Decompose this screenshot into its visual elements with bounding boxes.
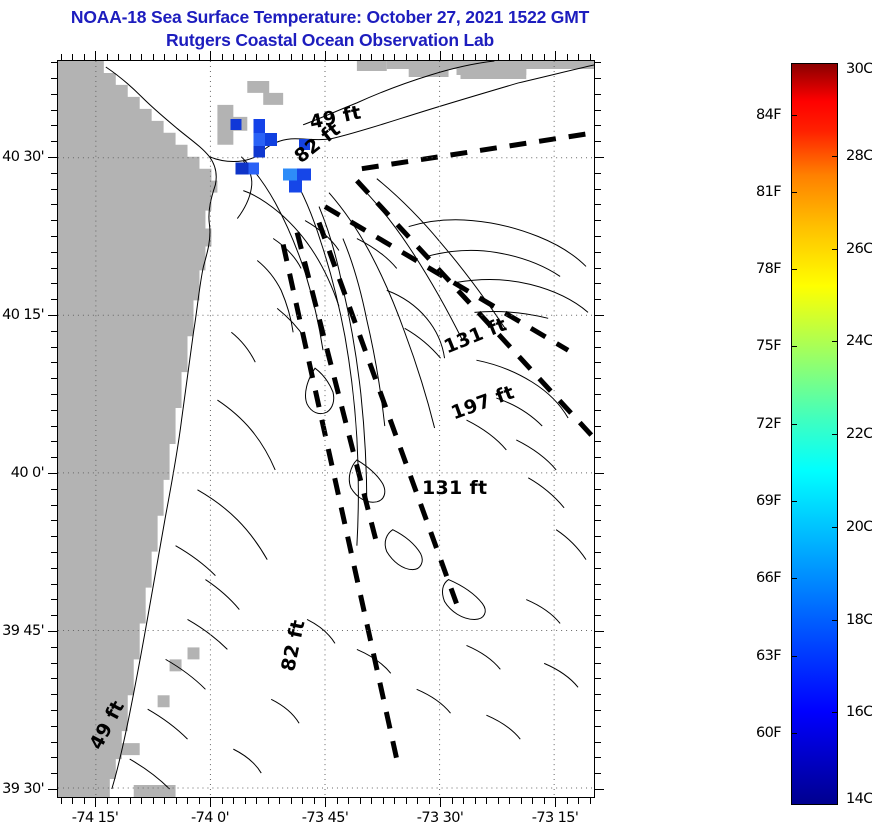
- y-tick-right: [595, 394, 601, 395]
- x-tick: [210, 798, 211, 807]
- x-tick: [486, 798, 487, 804]
- x-tick: [164, 798, 165, 804]
- y-tick-right: [595, 189, 601, 190]
- colorbar-label-f-4: 72F: [756, 416, 781, 432]
- title-line-2: Rutgers Coastal Ocean Observation Lab: [0, 29, 660, 52]
- x-tick: [567, 798, 568, 804]
- colorbar-tick-c-2: [832, 249, 838, 250]
- y-tick: [51, 394, 57, 395]
- x-tick: [371, 798, 372, 804]
- colorbar-label-c-5: 20C: [846, 519, 872, 535]
- x-tick-top: [360, 54, 361, 60]
- x-tick: [84, 798, 85, 804]
- y-tick: [51, 173, 57, 174]
- x-tick-top: [394, 54, 395, 60]
- colorbar-tick-c-5: [832, 527, 838, 528]
- y-tick-right: [595, 441, 601, 442]
- x-tick-top: [61, 54, 62, 60]
- x-tick: [95, 798, 96, 807]
- x-tick: [222, 798, 223, 804]
- y-axis-label-4: 39 30': [0, 781, 44, 797]
- x-tick: [233, 798, 234, 804]
- y-tick-right: [595, 220, 601, 221]
- x-tick-top: [509, 54, 510, 60]
- x-tick-top: [233, 54, 234, 60]
- x-tick-top: [153, 54, 154, 60]
- x-tick-top: [578, 54, 579, 60]
- y-tick: [51, 410, 57, 411]
- y-tick: [51, 189, 57, 190]
- x-tick: [268, 798, 269, 804]
- y-axis-label-2: 40 0': [0, 465, 44, 481]
- x-axis-label-1: -74 0': [191, 810, 229, 826]
- y-tick: [51, 347, 57, 348]
- x-tick-top: [118, 54, 119, 60]
- colorbar-tick-f-2: [791, 269, 797, 270]
- y-tick-right: [595, 789, 604, 790]
- y-tick-right: [595, 757, 601, 758]
- y-tick-right: [595, 78, 601, 79]
- y-tick-right: [595, 473, 604, 474]
- x-tick: [452, 798, 453, 804]
- y-tick-right: [595, 584, 601, 585]
- y-tick: [51, 283, 57, 284]
- colorbar: 30C28C26C24C22C20C18C16C14C84F81F78F75F7…: [791, 63, 838, 805]
- y-tick: [51, 125, 57, 126]
- y-tick: [51, 773, 57, 774]
- y-tick: [51, 378, 57, 379]
- colorbar-tick-f-4: [791, 424, 797, 425]
- colorbar-tick-c-3: [832, 341, 838, 342]
- colorbar-tick-f-7: [791, 656, 797, 657]
- x-tick: [302, 798, 303, 804]
- y-tick: [51, 236, 57, 237]
- y-tick: [48, 789, 57, 790]
- y-tick-right: [595, 631, 604, 632]
- x-tick-top: [383, 54, 384, 60]
- y-tick-right: [595, 426, 601, 427]
- page-title: NOAA-18 Sea Surface Temperature: October…: [0, 6, 660, 52]
- x-tick: [475, 798, 476, 804]
- x-tick: [590, 798, 591, 804]
- colorbar-label-f-0: 84F: [756, 107, 781, 123]
- x-tick: [509, 798, 510, 804]
- x-tick-top: [176, 54, 177, 60]
- colorbar-label-f-1: 81F: [756, 184, 781, 200]
- y-tick-right: [595, 710, 601, 711]
- x-tick-top: [164, 54, 165, 60]
- x-tick-top: [544, 54, 545, 60]
- x-tick-top: [107, 54, 108, 60]
- y-tick-right: [595, 647, 601, 648]
- y-tick: [48, 315, 57, 316]
- x-tick-top: [302, 54, 303, 60]
- y-tick: [51, 552, 57, 553]
- y-tick-right: [595, 378, 601, 379]
- y-tick: [51, 710, 57, 711]
- x-tick-top: [440, 51, 441, 60]
- colorbar-tick-f-6: [791, 578, 797, 579]
- x-tick-top: [348, 54, 349, 60]
- x-tick-top: [452, 54, 453, 60]
- x-tick-top: [532, 54, 533, 60]
- x-tick-top: [555, 51, 556, 60]
- x-tick-top: [590, 54, 591, 60]
- colorbar-label-c-0: 30C: [846, 61, 872, 77]
- colorbar-label-f-8: 60F: [756, 725, 781, 741]
- x-tick: [498, 798, 499, 804]
- colorbar-label-f-3: 75F: [756, 338, 781, 354]
- x-tick: [118, 798, 119, 804]
- x-tick-top: [187, 54, 188, 60]
- x-tick-top: [406, 54, 407, 60]
- y-tick-right: [595, 663, 601, 664]
- x-tick-top: [268, 54, 269, 60]
- y-tick-right: [595, 299, 601, 300]
- y-tick: [51, 252, 57, 253]
- y-tick: [51, 742, 57, 743]
- y-tick: [51, 489, 57, 490]
- y-tick-right: [595, 347, 601, 348]
- x-tick: [141, 798, 142, 804]
- colorbar-tick-c-4: [832, 434, 838, 435]
- x-axis-label-4: -73 15': [532, 810, 579, 826]
- y-tick: [51, 694, 57, 695]
- y-tick-right: [595, 694, 601, 695]
- y-tick-right: [595, 520, 601, 521]
- colorbar-label-f-2: 78F: [756, 261, 781, 277]
- y-tick-right: [595, 552, 601, 553]
- x-tick: [348, 798, 349, 804]
- colorbar-tick-f-8: [791, 733, 797, 734]
- x-tick-top: [130, 54, 131, 60]
- y-tick: [51, 62, 57, 63]
- y-tick: [51, 204, 57, 205]
- x-tick-top: [291, 54, 292, 60]
- x-tick: [360, 798, 361, 804]
- x-tick-top: [222, 54, 223, 60]
- y-tick-right: [595, 489, 601, 490]
- x-tick-top: [371, 54, 372, 60]
- x-tick-top: [475, 54, 476, 60]
- y-axis-label-3: 39 45': [0, 623, 44, 639]
- x-tick-top: [463, 54, 464, 60]
- colorbar-tick-c-0: [832, 63, 838, 64]
- x-axis-label-3: -73 30': [417, 810, 464, 826]
- title-line-1: NOAA-18 Sea Surface Temperature: October…: [0, 6, 660, 29]
- x-tick-top: [521, 54, 522, 60]
- sst-map-plot: [57, 60, 595, 798]
- y-tick-right: [595, 236, 601, 237]
- y-tick-right: [595, 204, 601, 205]
- colorbar-label-c-3: 24C: [846, 333, 872, 349]
- colorbar-label-c-1: 28C: [846, 148, 872, 164]
- x-tick-top: [314, 54, 315, 60]
- y-tick-right: [595, 726, 601, 727]
- x-tick: [521, 798, 522, 804]
- x-tick: [532, 798, 533, 804]
- y-tick: [48, 157, 57, 158]
- y-tick: [51, 268, 57, 269]
- x-tick-top: [95, 51, 96, 60]
- x-tick-top: [429, 54, 430, 60]
- y-tick-right: [595, 362, 601, 363]
- y-tick: [48, 631, 57, 632]
- y-tick-right: [595, 773, 601, 774]
- y-tick-right: [595, 457, 601, 458]
- y-tick-right: [595, 252, 601, 253]
- x-tick-top: [486, 54, 487, 60]
- y-tick: [51, 457, 57, 458]
- colorbar-tick-c-8: [832, 804, 838, 805]
- x-tick-top: [417, 54, 418, 60]
- y-tick-right: [595, 315, 604, 316]
- colorbar-label-c-6: 18C: [846, 612, 872, 628]
- x-tick: [314, 798, 315, 804]
- x-tick-top: [279, 54, 280, 60]
- y-axis-label-1: 40 15': [0, 307, 44, 323]
- colorbar-label-f-6: 66F: [756, 570, 781, 586]
- x-tick: [406, 798, 407, 804]
- y-tick-right: [595, 141, 601, 142]
- colorbar-label-c-7: 16C: [846, 704, 872, 720]
- x-tick: [153, 798, 154, 804]
- x-tick: [555, 798, 556, 807]
- x-tick: [279, 798, 280, 804]
- x-tick-top: [245, 54, 246, 60]
- x-tick: [199, 798, 200, 804]
- x-tick: [256, 798, 257, 804]
- y-tick: [51, 362, 57, 363]
- x-tick: [107, 798, 108, 804]
- y-tick: [51, 94, 57, 95]
- y-tick-right: [595, 742, 601, 743]
- y-tick-right: [595, 505, 601, 506]
- y-tick-right: [595, 331, 601, 332]
- x-tick: [417, 798, 418, 804]
- y-tick: [51, 678, 57, 679]
- y-tick: [51, 505, 57, 506]
- y-tick-right: [595, 173, 601, 174]
- colorbar-tick-c-7: [832, 712, 838, 713]
- y-tick: [51, 647, 57, 648]
- colorbar-label-c-8: 14C: [846, 791, 872, 807]
- depth-label-4: 131 ft: [422, 477, 487, 499]
- y-tick-right: [595, 615, 601, 616]
- x-tick-top: [325, 51, 326, 60]
- y-tick-right: [595, 678, 601, 679]
- y-tick: [51, 220, 57, 221]
- y-tick-right: [595, 599, 601, 600]
- y-tick: [51, 441, 57, 442]
- x-tick-top: [84, 54, 85, 60]
- colorbar-label-c-2: 26C: [846, 241, 872, 257]
- x-tick: [325, 798, 326, 807]
- y-tick-right: [595, 568, 601, 569]
- colorbar-tick-f-1: [791, 192, 797, 193]
- x-tick: [578, 798, 579, 804]
- x-tick: [337, 798, 338, 804]
- y-axis-label-0: 40 30': [0, 149, 44, 165]
- y-tick: [51, 331, 57, 332]
- y-tick: [51, 426, 57, 427]
- y-tick: [51, 663, 57, 664]
- y-tick: [51, 615, 57, 616]
- y-tick-right: [595, 283, 601, 284]
- y-tick: [51, 726, 57, 727]
- y-tick-right: [595, 110, 601, 111]
- x-axis-label-0: -74 15': [72, 810, 119, 826]
- colorbar-label-c-4: 22C: [846, 426, 872, 442]
- colorbar-tick-c-1: [832, 156, 838, 157]
- colorbar-gradient: [791, 63, 838, 805]
- y-tick: [51, 78, 57, 79]
- colorbar-tick-f-3: [791, 346, 797, 347]
- x-tick: [245, 798, 246, 804]
- x-tick-top: [498, 54, 499, 60]
- x-tick: [383, 798, 384, 804]
- x-axis-label-2: -73 45': [302, 810, 349, 826]
- x-tick-top: [256, 54, 257, 60]
- y-tick: [51, 141, 57, 142]
- x-tick-top: [72, 54, 73, 60]
- x-tick: [440, 798, 441, 807]
- y-tick: [51, 536, 57, 537]
- y-tick-right: [595, 536, 601, 537]
- y-tick: [51, 757, 57, 758]
- y-tick-right: [595, 94, 601, 95]
- y-tick: [51, 520, 57, 521]
- x-tick-top: [141, 54, 142, 60]
- x-tick: [429, 798, 430, 804]
- y-tick-right: [595, 125, 601, 126]
- y-tick: [51, 584, 57, 585]
- colorbar-tick-c-6: [832, 620, 838, 621]
- y-tick: [51, 110, 57, 111]
- colorbar-tick-f-5: [791, 501, 797, 502]
- x-tick-top: [337, 54, 338, 60]
- x-tick: [61, 798, 62, 804]
- map-canvas: [58, 61, 594, 797]
- x-tick: [291, 798, 292, 804]
- y-tick-right: [595, 157, 604, 158]
- x-tick: [394, 798, 395, 804]
- x-tick: [463, 798, 464, 804]
- y-tick-right: [595, 410, 601, 411]
- colorbar-label-f-7: 63F: [756, 648, 781, 664]
- y-tick: [48, 473, 57, 474]
- colorbar-label-f-5: 69F: [756, 493, 781, 509]
- x-tick: [72, 798, 73, 804]
- y-tick: [51, 568, 57, 569]
- y-tick-right: [595, 62, 601, 63]
- y-tick-right: [595, 268, 601, 269]
- x-tick-top: [199, 54, 200, 60]
- x-tick: [176, 798, 177, 804]
- x-tick: [187, 798, 188, 804]
- colorbar-tick-f-0: [791, 115, 797, 116]
- x-tick-top: [210, 51, 211, 60]
- x-tick-top: [567, 54, 568, 60]
- y-tick: [51, 599, 57, 600]
- y-tick: [51, 299, 57, 300]
- x-tick: [130, 798, 131, 804]
- x-tick: [544, 798, 545, 804]
